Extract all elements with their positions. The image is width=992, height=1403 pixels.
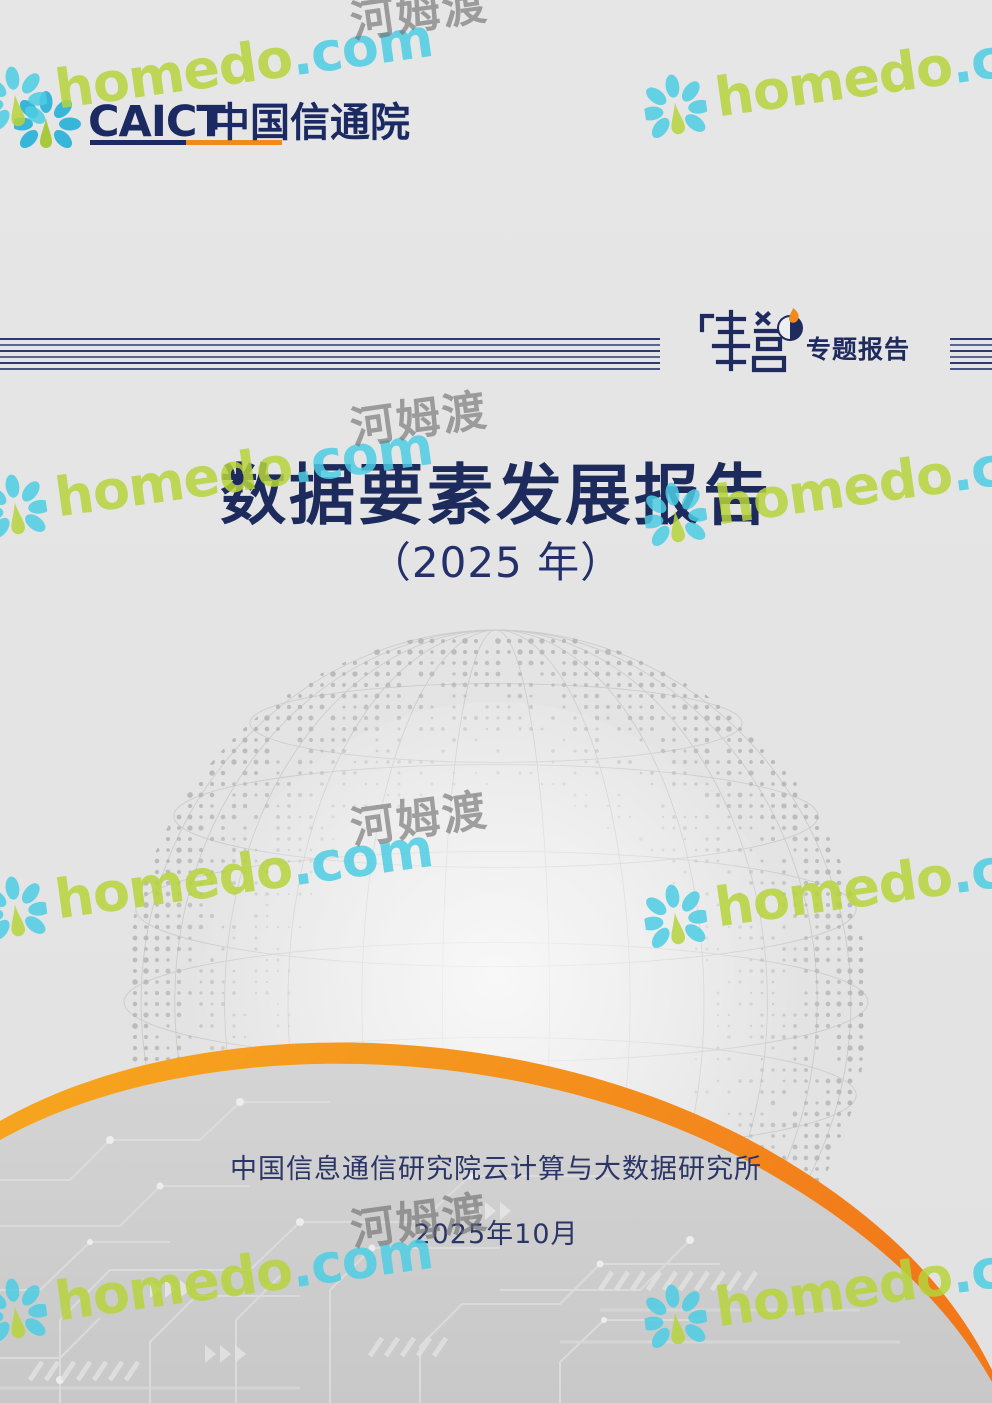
caict-logo: CAICT 中国信通院	[14, 88, 414, 156]
footer-date: 2025年10月	[0, 1212, 992, 1251]
bottom-decoration	[0, 990, 992, 1403]
caict-flower-icon	[14, 91, 81, 151]
jizhi-brand-icon	[694, 306, 812, 378]
svg-text:CAICT: CAICT	[88, 97, 226, 147]
page-subtitle: （2025 年）	[0, 538, 992, 588]
svg-text:中国信通院: 中国信通院	[210, 100, 410, 146]
report-cover-page: CAICT 中国信通院	[0, 0, 992, 1403]
footer-organization: 中国信息通信研究院云计算与大数据研究所	[0, 1147, 992, 1186]
page-title: 数据要素发展报告	[0, 459, 992, 533]
banner-label: 专题报告	[806, 337, 910, 362]
